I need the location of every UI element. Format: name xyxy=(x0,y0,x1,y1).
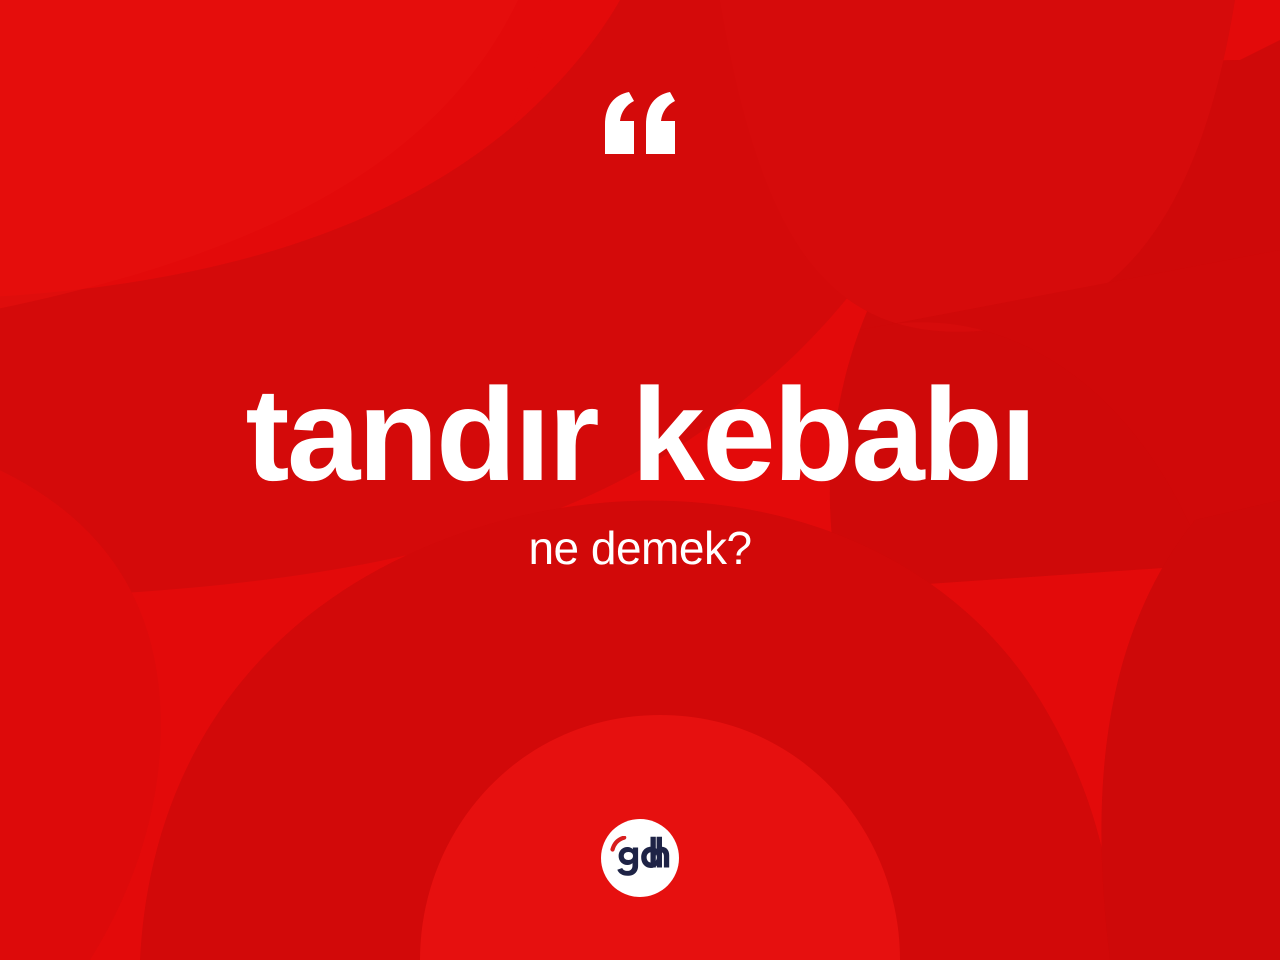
text-block: tandır kebabı ne demek? xyxy=(0,368,1280,573)
logo-accent-arc xyxy=(613,838,625,850)
gdh-logo[interactable] xyxy=(601,819,679,897)
page-subtitle: ne demek? xyxy=(0,523,1280,574)
logo-wordmark xyxy=(617,837,669,876)
double-quote-icon xyxy=(0,92,1280,162)
quote-card: tandır kebabı ne demek? xyxy=(0,0,1280,960)
page-title: tandır kebabı xyxy=(0,368,1280,503)
